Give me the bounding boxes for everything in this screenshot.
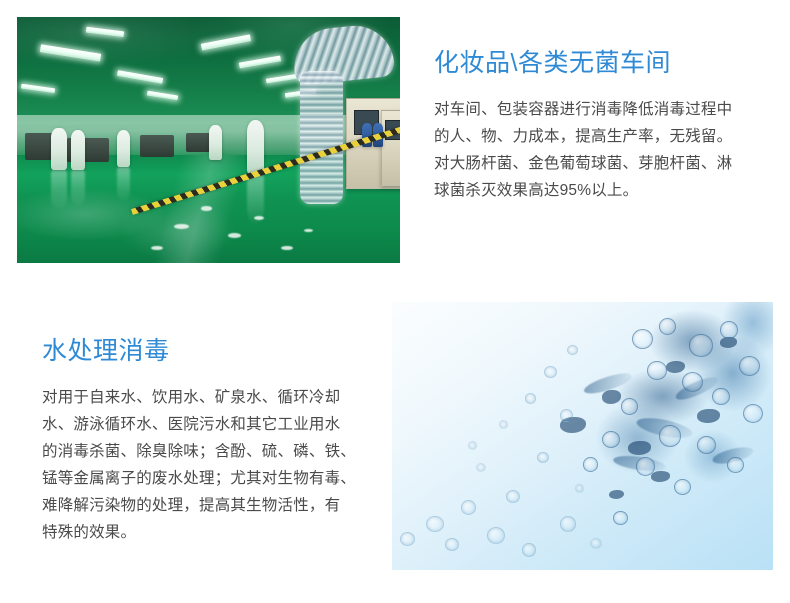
water-bubble [506, 490, 520, 503]
water-bubble [567, 345, 577, 355]
water-treatment-section-title: 水处理消毒 [42, 336, 382, 366]
water-bubble [659, 318, 676, 335]
water-bubble [461, 500, 477, 515]
water-bubble [560, 409, 573, 422]
floor-glare [281, 246, 292, 250]
body-line: 的消毒杀菌、除臭除味；含酚、硫、磷、铁、 [42, 438, 382, 465]
body-line: 对大肠杆菌、金色葡萄球菌、芽胞杆菌、淋 [434, 150, 774, 177]
water-bubble [621, 398, 638, 414]
body-line: 水、游泳循环水、医院污水和其它工业用水 [42, 411, 382, 438]
water-bubble [659, 425, 682, 446]
worker-figure [209, 125, 222, 159]
water-bubble [468, 441, 477, 449]
cleanroom-section-title: 化妆品\各类无菌车间 [434, 48, 774, 78]
body-line: 特殊的效果。 [42, 519, 382, 546]
floor-reflection [51, 170, 66, 209]
air-duct [300, 71, 342, 204]
body-line: 的人、物、力成本，提高生产率，无残留。 [434, 123, 774, 150]
water-bubble [522, 543, 537, 557]
water-splash-mass [537, 302, 773, 516]
water-bubble [697, 436, 716, 454]
water-treatment-text-block: 水处理消毒 对用于自来水、饮用水、矿泉水、循环冷却 水、游泳循环水、医院污水和其… [42, 336, 382, 546]
water-bubble [727, 457, 743, 473]
water-bubble [426, 516, 443, 532]
water-splash-image [392, 302, 773, 570]
floor-glare [174, 224, 189, 229]
floor-glare [201, 206, 212, 210]
body-line: 对车间、包装容器进行消毒降低消毒过程中 [434, 96, 774, 123]
body-line: 难降解污染物的处理，提高其生物活性，有 [42, 492, 382, 519]
water-bubble [739, 356, 760, 376]
water-droplet [651, 471, 670, 482]
worker-figure [247, 120, 265, 174]
water-bubble [476, 463, 486, 473]
water-bubble [743, 404, 763, 423]
cleanroom-section-body: 对车间、包装容器进行消毒降低消毒过程中 的人、物、力成本，提高生产率，无残留。 … [434, 96, 774, 204]
water-bubble [445, 538, 458, 551]
water-bubble [525, 393, 536, 404]
water-treatment-section-body: 对用于自来水、饮用水、矿泉水、循环冷却 水、游泳循环水、医院污水和其它工业用水 … [42, 384, 382, 546]
water-bubble [487, 527, 505, 543]
water-bubble [537, 452, 549, 463]
water-bubble [602, 431, 620, 448]
body-line: 对用于自来水、饮用水、矿泉水、循环冷却 [42, 384, 382, 411]
product-detail-page: 化妆品\各类无菌车间 对车间、包装容器进行消毒降低消毒过程中 的人、物、力成本，… [0, 0, 790, 603]
worker-figure [71, 130, 86, 169]
water-bubble [689, 334, 712, 356]
floor-reflection [71, 170, 86, 207]
water-droplet [602, 390, 621, 403]
water-droplet [697, 409, 720, 422]
worker-figure [51, 128, 66, 170]
water-bubble [560, 516, 576, 531]
water-bubble [499, 420, 509, 429]
water-bubble [720, 321, 739, 339]
cleanroom-text-block: 化妆品\各类无菌车间 对车间、包装容器进行消毒降低消毒过程中 的人、物、力成本，… [434, 48, 774, 204]
water-bubble [590, 538, 602, 549]
water-bubble [400, 532, 415, 546]
water-bubble [647, 361, 667, 380]
water-bubble [613, 511, 628, 525]
water-bubble [632, 329, 653, 349]
cleanroom-image [17, 17, 400, 263]
floor-reflection [117, 167, 131, 201]
body-line: 球菌杀灭效果高达95%以上。 [434, 177, 774, 204]
equipment-unit [140, 135, 174, 157]
body-line: 锰等金属离子的废水处理；尤其对生物有毒、 [42, 465, 382, 492]
worker-figure [117, 130, 131, 167]
